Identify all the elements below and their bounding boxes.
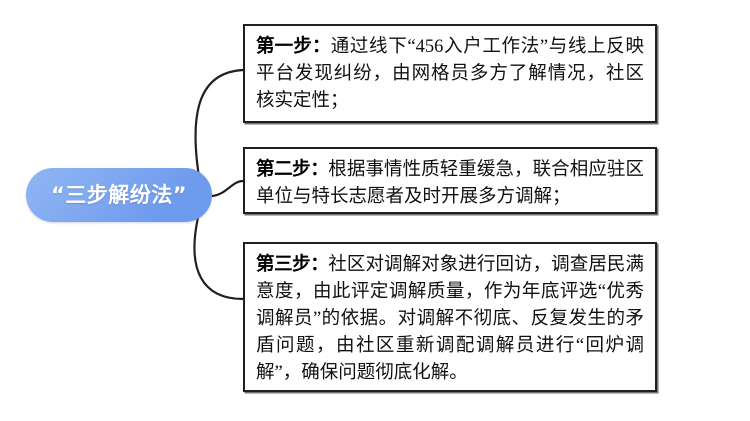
step-2-text: 第二步：根据事情性质轻重缓急，联合相应驻区单位与特长志愿者及时开展多方调解；: [256, 156, 644, 211]
step-3-text: 第三步：社区对调解对象进行回访，调查居民满意度，由此评定调解质量，作为年底评选“…: [256, 251, 644, 387]
step-1-label: 第一步：: [256, 36, 331, 57]
root-node[interactable]: “三步解纷法”: [26, 168, 212, 222]
diagram-canvas: “三步解纷法” 第一步：通过线下“456入户工作法”与线上反映平台发现纠纷，由网…: [0, 0, 750, 421]
step-box-1[interactable]: 第一步：通过线下“456入户工作法”与线上反映平台发现纠纷，由网格员多方了解情况…: [243, 24, 657, 123]
connector-to-step-1: [196, 70, 243, 183]
root-node-label: “三步解纷法”: [51, 185, 187, 206]
connector-to-step-2: [212, 181, 243, 196]
step-box-3[interactable]: 第三步：社区对调解对象进行回访，调查居民满意度，由此评定调解质量，作为年底评选“…: [243, 242, 657, 392]
step-box-2[interactable]: 第二步：根据事情性质轻重缓急，联合相应驻区单位与特长志愿者及时开展多方调解；: [243, 147, 657, 214]
step-2-label: 第二步：: [256, 159, 328, 180]
step-1-text: 第一步：通过线下“456入户工作法”与线上反映平台发现纠纷，由网格员多方了解情况…: [256, 33, 644, 115]
step-3-label: 第三步：: [256, 254, 328, 275]
connector-to-step-3: [194, 209, 243, 299]
